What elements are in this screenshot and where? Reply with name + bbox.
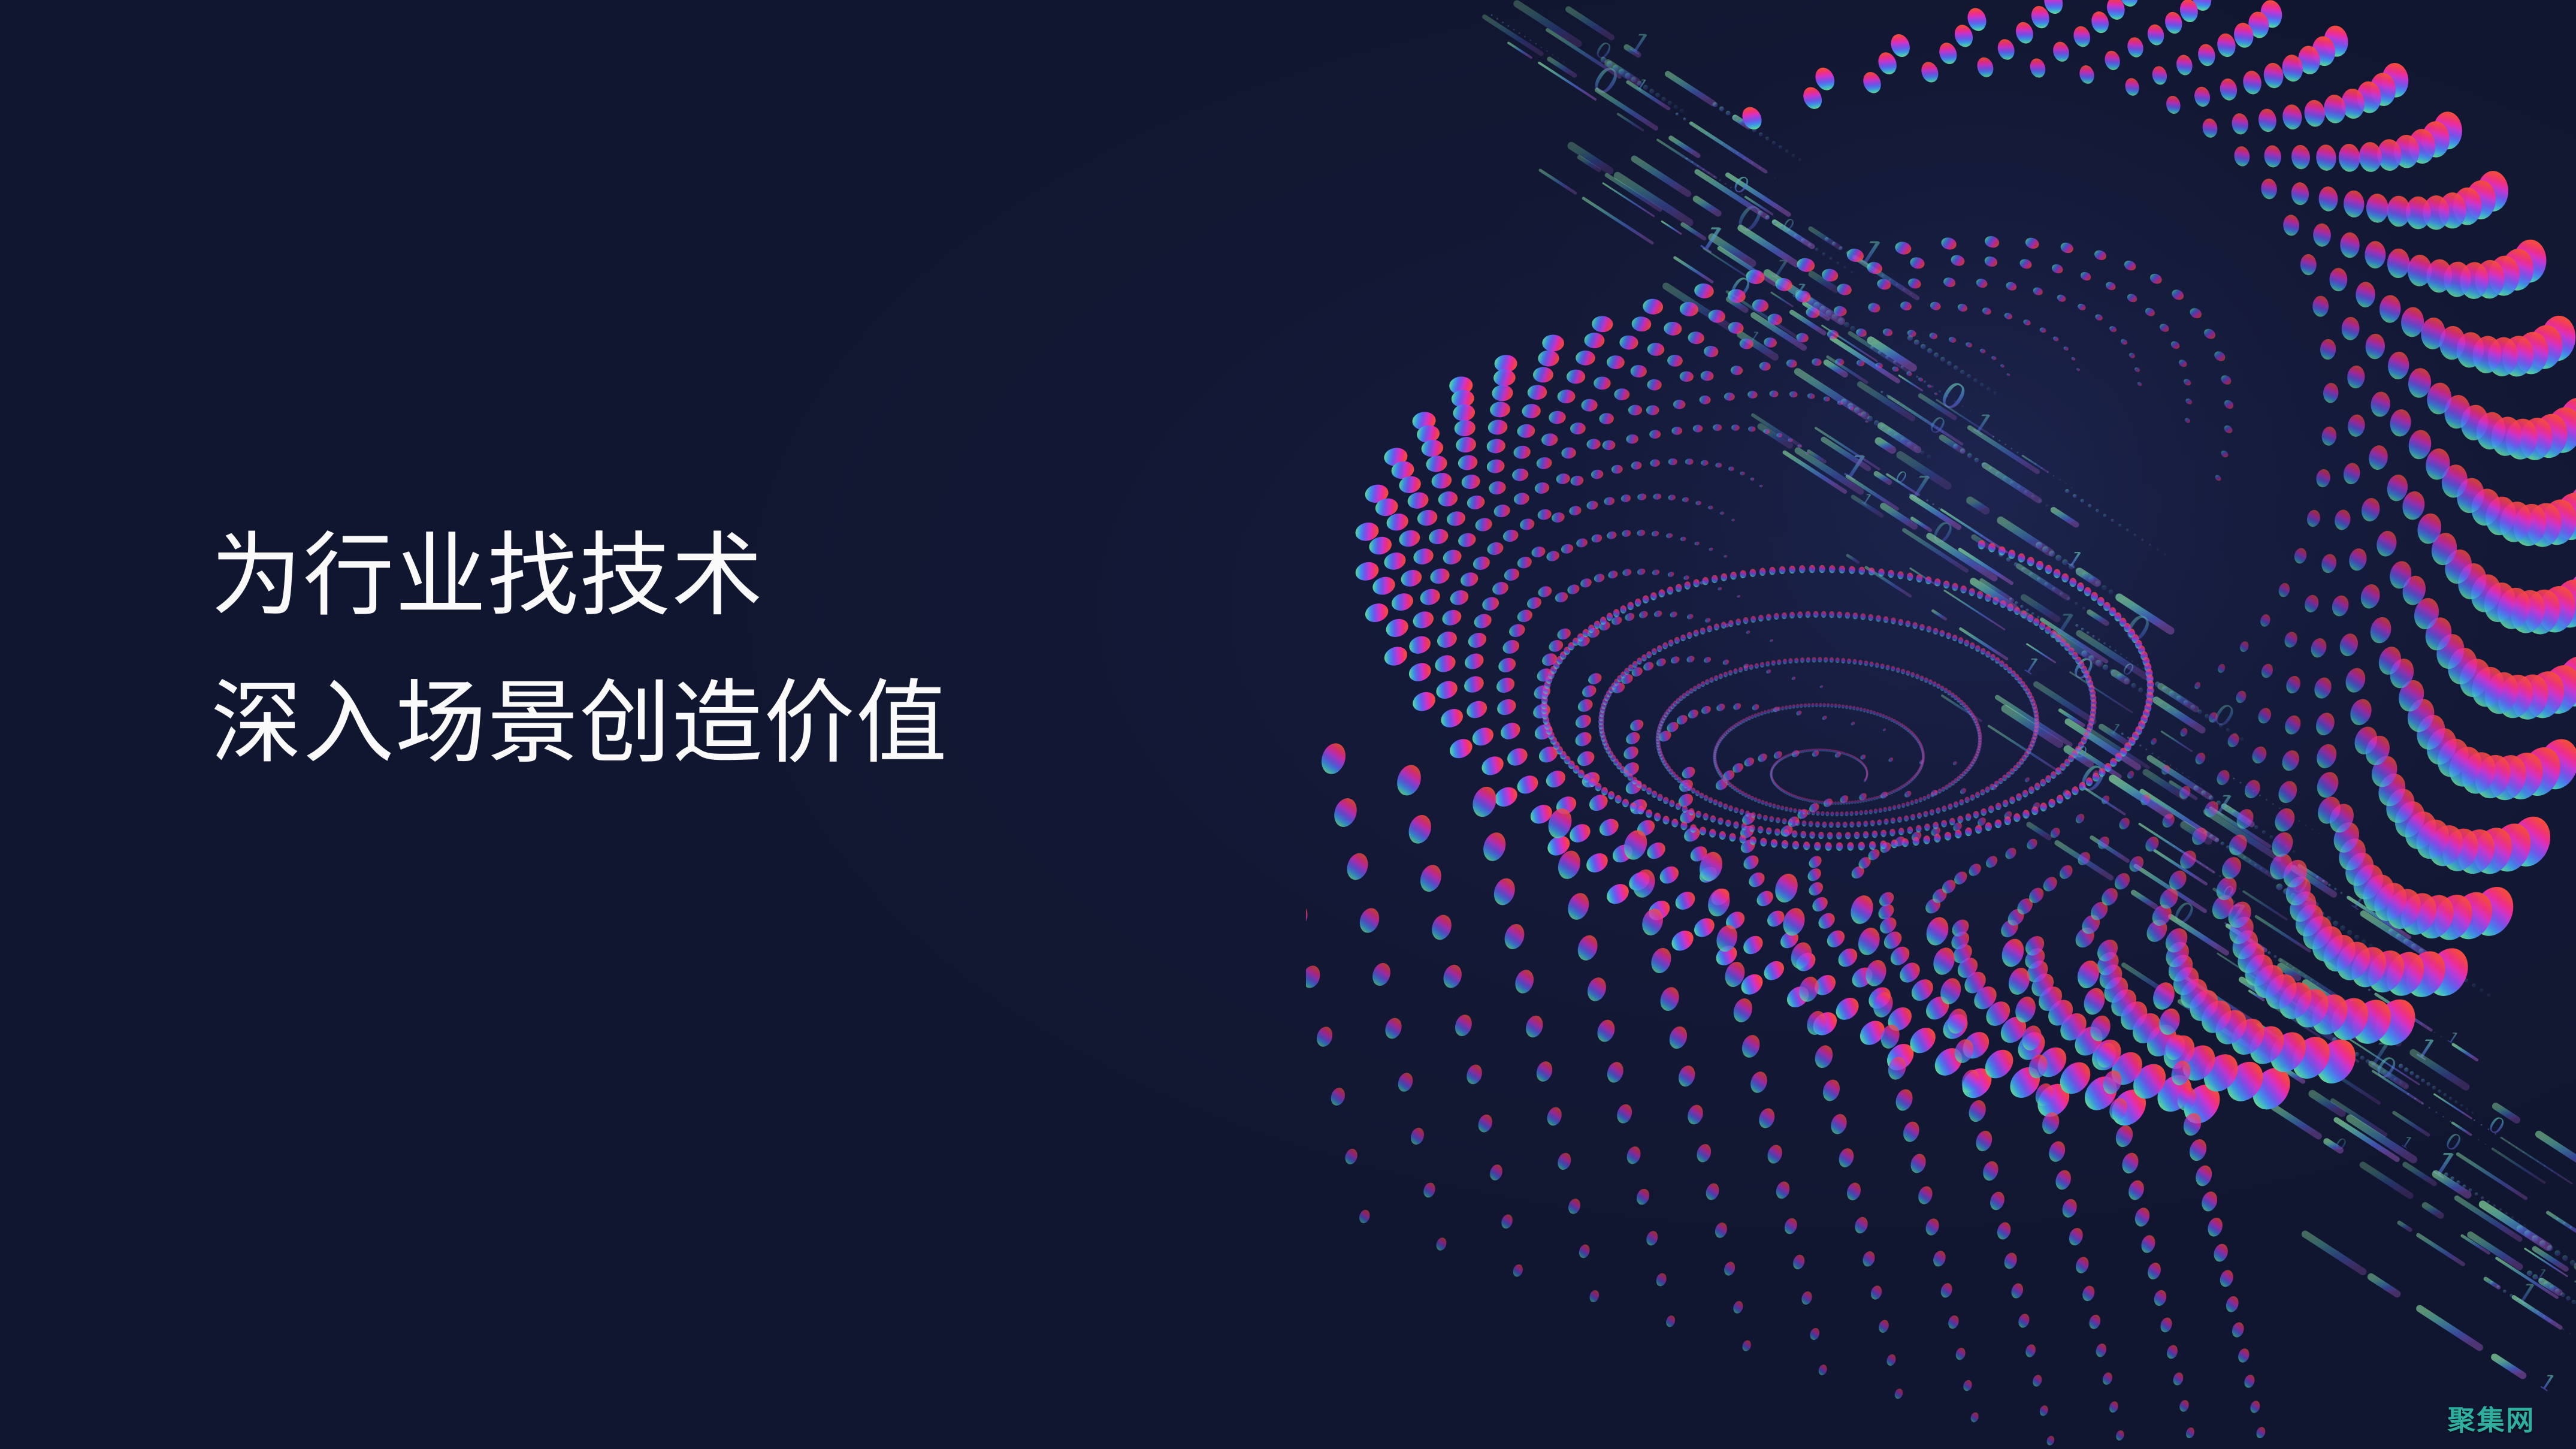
presentation-slide: 0101101001010101101001010101101001010101… [0,0,2576,1449]
site-watermark: 聚集网 [2448,1399,2535,1438]
halftone-dot-spiral-graphic: 0101101001010101101001010101101001010101… [1306,0,2576,1449]
headline-block: 为行业找技术 深入场景创造价值 [211,502,948,797]
headline-line-2: 深入场景创造价值 [211,650,948,797]
svg-text:1: 1 [2535,1368,2560,1397]
headline-line-1: 为行业找技术 [211,502,948,650]
svg-text:0: 0 [2568,1279,2576,1326]
